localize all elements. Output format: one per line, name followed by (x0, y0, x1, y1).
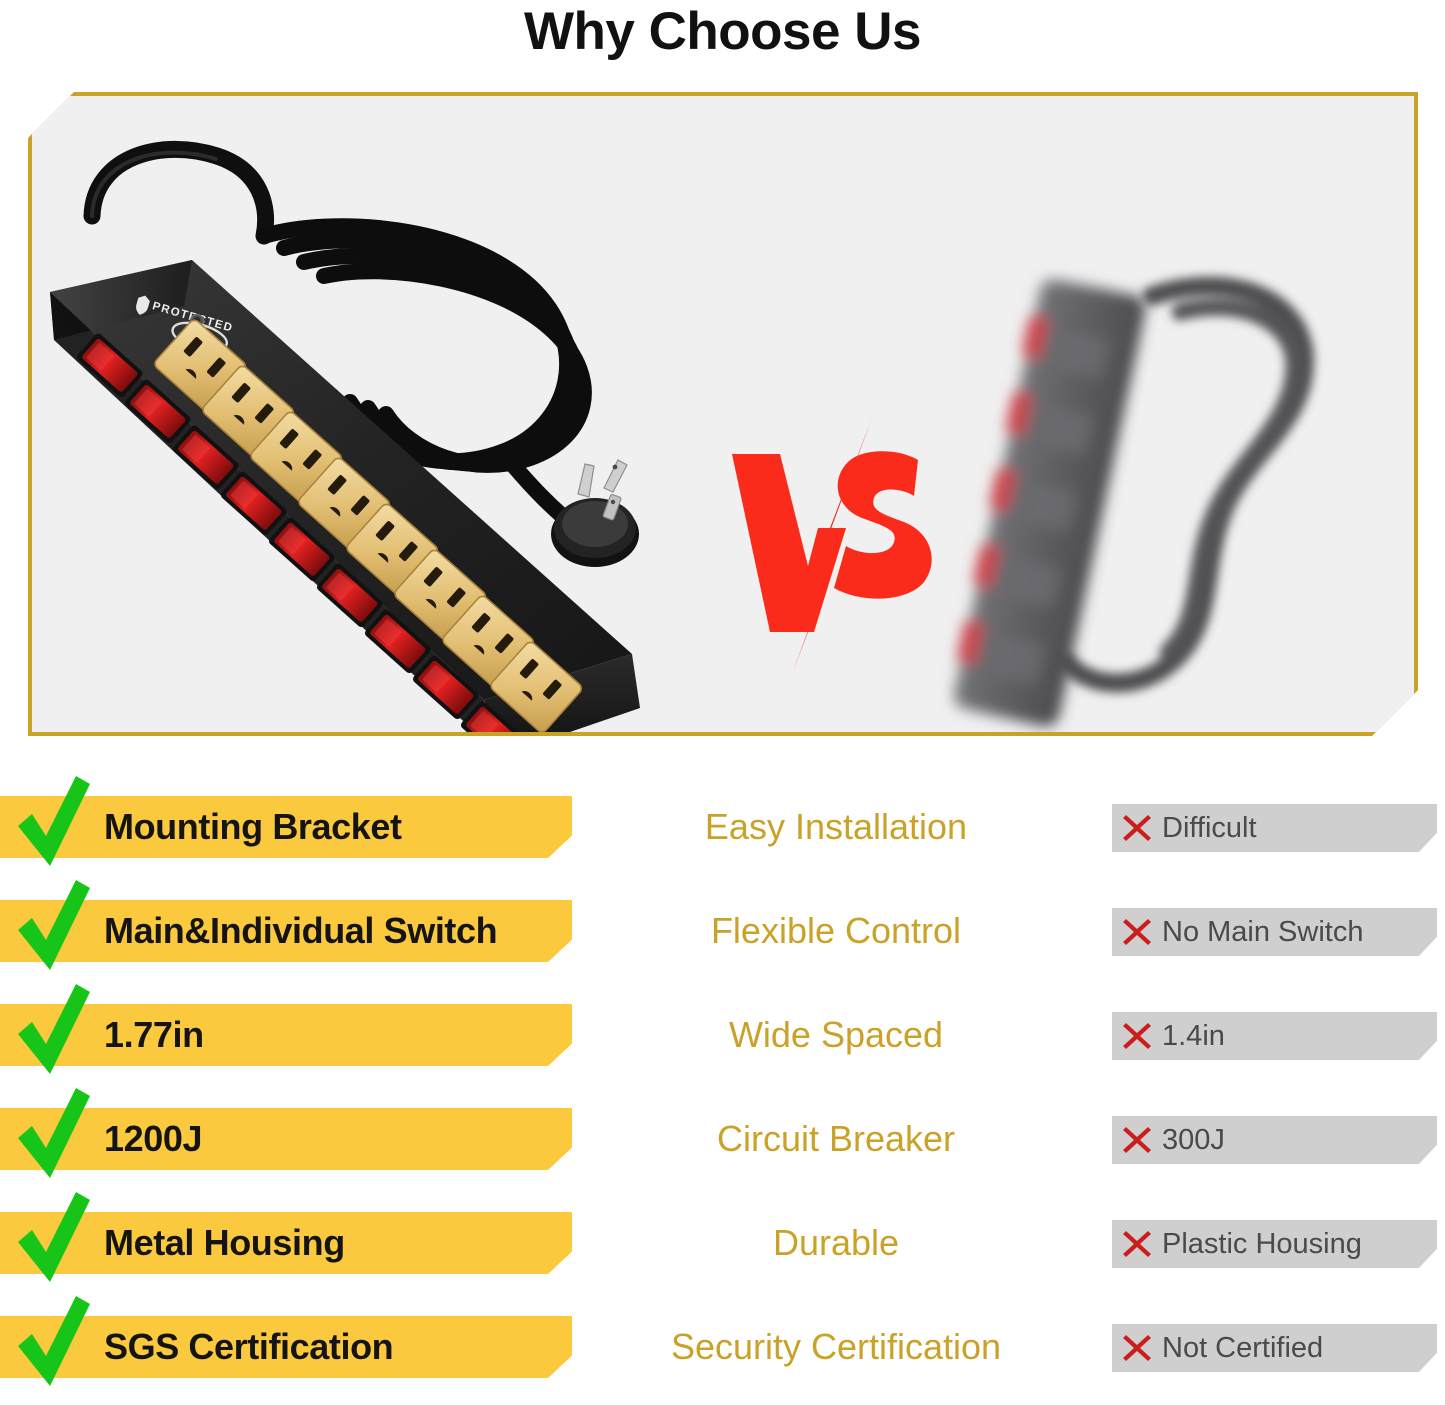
check-icon (12, 878, 96, 974)
comparison-row: Mounting Bracket Easy Installation Diffi… (0, 782, 1445, 886)
their-feature-row: Difficult (1112, 804, 1257, 852)
their-feature-row: Plastic Housing (1112, 1220, 1362, 1268)
their-feature-label: No Main Switch (1162, 916, 1363, 949)
their-feature-row: 300J (1112, 1116, 1225, 1164)
outlets (153, 318, 584, 734)
x-icon (1122, 1229, 1152, 1259)
infographic-page: Why Choose Us (0, 0, 1445, 1405)
check-icon (12, 1190, 96, 1286)
feature-name: Security Certification (600, 1316, 1072, 1378)
feature-name: Flexible Control (600, 900, 1072, 962)
check-icon (12, 982, 96, 1078)
their-feature-label: Difficult (1162, 812, 1257, 845)
hero-panel: PROTECTED CCS POWER STRIP (28, 92, 1418, 736)
feature-name: Easy Installation (600, 796, 1072, 858)
our-feature-label: Main&Individual Switch (104, 900, 497, 962)
x-icon (1122, 1333, 1152, 1363)
comparison-row: 1.77in Wide Spaced 1.4in (0, 990, 1445, 1094)
x-icon (1122, 1021, 1152, 1051)
our-feature-label: Mounting Bracket (104, 796, 402, 858)
feature-name: Durable (600, 1212, 1072, 1274)
check-icon (12, 1294, 96, 1390)
our-feature-label: SGS Certification (104, 1316, 393, 1378)
comparison-row: Main&Individual Switch Flexible Control … (0, 886, 1445, 990)
their-feature-label: Not Certified (1162, 1332, 1323, 1365)
their-feature-label: 1.4in (1162, 1020, 1225, 1053)
our-feature-label: 1.77in (104, 1004, 204, 1066)
their-feature-label: Plastic Housing (1162, 1228, 1362, 1261)
check-icon (12, 774, 96, 870)
their-feature-label: 300J (1162, 1124, 1225, 1157)
x-icon (1122, 917, 1152, 947)
power-plug (551, 460, 639, 567)
our-feature-label: Metal Housing (104, 1212, 345, 1274)
their-feature-row: Not Certified (1112, 1324, 1323, 1372)
comparison-row: Metal Housing Durable Plastic Housing (0, 1198, 1445, 1302)
our-power-strip-graphic: PROTECTED CCS POWER STRIP (50, 149, 640, 736)
check-icon (12, 1086, 96, 1182)
our-feature-label: 1200J (104, 1108, 202, 1170)
comparison-row: 1200J Circuit Breaker 300J (0, 1094, 1445, 1198)
comparison-rows: Mounting Bracket Easy Installation Diffi… (0, 782, 1445, 1405)
competitor-power-strip-graphic (947, 275, 1148, 729)
page-title: Why Choose Us (0, 0, 1445, 70)
feature-name: Circuit Breaker (600, 1108, 1072, 1170)
feature-name: Wide Spaced (600, 1004, 1072, 1066)
their-feature-row: No Main Switch (1112, 908, 1363, 956)
vs-badge (722, 416, 952, 676)
x-icon (1122, 1125, 1152, 1155)
their-feature-row: 1.4in (1112, 1012, 1225, 1060)
comparison-row: SGS Certification Security Certification… (0, 1302, 1445, 1405)
x-icon (1122, 813, 1152, 843)
